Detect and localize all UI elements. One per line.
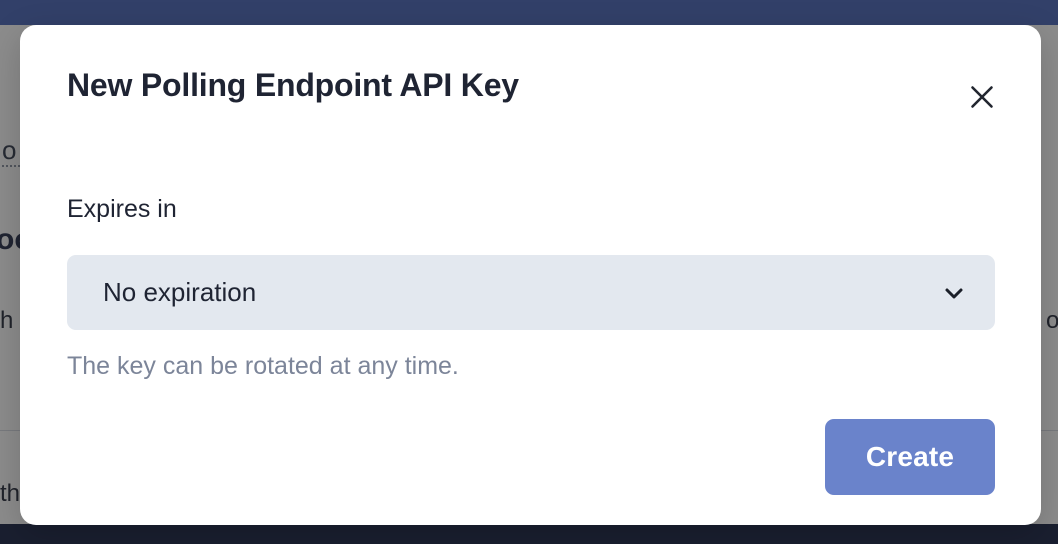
create-button[interactable]: Create [825,419,995,495]
expires-in-select[interactable]: No expiration [67,255,995,330]
expires-in-select-value: No expiration [103,277,256,308]
close-icon [968,83,996,111]
app-bottom-bar [0,524,1058,544]
expires-in-label: Expires in [67,195,177,224]
page-title: New Polling Endpoint API Key [67,67,519,104]
close-button[interactable] [955,70,1009,124]
new-api-key-modal: New Polling Endpoint API Key Expires in … [20,25,1041,525]
app-top-bar [0,0,1058,25]
expires-in-help-text: The key can be rotated at any time. [67,352,459,381]
modal-header: New Polling Endpoint API Key [20,25,1041,145]
modal-footer: Create [20,400,1041,525]
chevron-down-icon [941,280,967,306]
